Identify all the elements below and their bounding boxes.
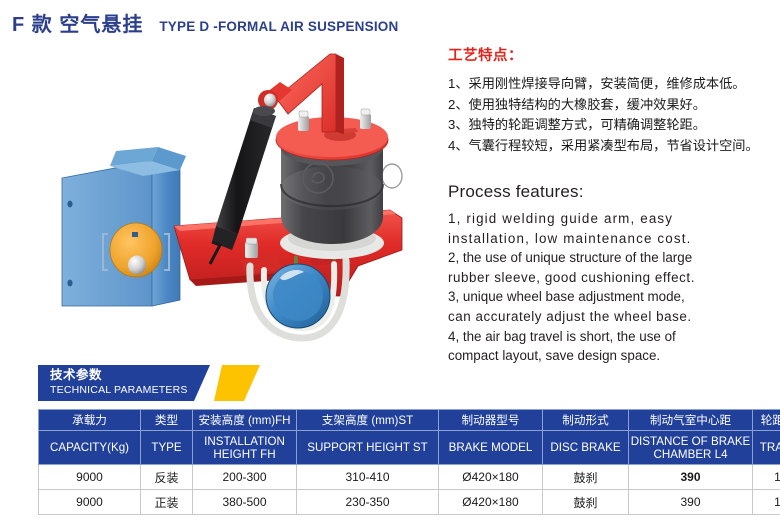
feature-en-line-7: 4, the air bag travel is short, the use … bbox=[448, 327, 774, 347]
cell-brake-model: Ø420×180 bbox=[439, 465, 543, 490]
th-en-track: TRACK L2 bbox=[753, 431, 780, 465]
cell-track: 1840 bbox=[753, 465, 780, 490]
features-list-cn: 1、采用刚性焊接导向臂，安装简便，维修成本低。 2、使用独特结构的大橡胶套，缓冲… bbox=[448, 74, 774, 156]
table-row: 9000 反装 200-300 310-410 Ø420×180 鼓刹 390 … bbox=[39, 465, 780, 490]
banner-label-cn: 技术参数 bbox=[50, 368, 188, 383]
cell-type: 正装 bbox=[141, 490, 193, 515]
feature-cn-1: 1、采用刚性焊接导向臂，安装简便，维修成本低。 bbox=[448, 74, 774, 95]
cell-track: 1840 bbox=[753, 490, 780, 515]
table-body: 9000 反装 200-300 310-410 Ø420×180 鼓刹 390 … bbox=[39, 465, 780, 515]
th-en-disc-brake: DISC BRAKE bbox=[543, 431, 629, 465]
feature-en-line-3: 2, the use of unique structure of the la… bbox=[448, 248, 774, 268]
th-en-capacity: CAPACITY(Kg) bbox=[39, 431, 141, 465]
cell-chamber-distance: 390 bbox=[629, 465, 753, 490]
title-english: TYPE D -FORMAL AIR SUSPENSION bbox=[159, 19, 398, 34]
feature-en-line-1: 1, rigid welding guide arm, easy bbox=[448, 209, 774, 229]
axle-assembly bbox=[250, 260, 346, 338]
cell-installation-height: 200-300 bbox=[193, 465, 297, 490]
product-illustration bbox=[40, 38, 440, 363]
th-cn-type: 类型 bbox=[141, 410, 193, 431]
th-cn-chamber-distance: 制动气室中心距 bbox=[629, 410, 753, 431]
page-title: F 款 空气悬挂 TYPE D -FORMAL AIR SUSPENSION bbox=[12, 8, 398, 37]
cell-capacity: 9000 bbox=[39, 490, 141, 515]
feature-cn-4: 4、气囊行程较短，采用紧凑型布局，节省设计空间。 bbox=[448, 136, 774, 157]
feature-en-line-5: 3, unique wheel base adjustment mode, bbox=[448, 287, 774, 307]
feature-en-line-4: rubber sleeve, good cushioning effect. bbox=[448, 268, 774, 288]
banner-label-en: TECHNICAL PARAMETERS bbox=[50, 383, 188, 397]
hanger-bracket bbox=[62, 147, 186, 306]
th-en-support-height: SUPPORT HEIGHT ST bbox=[297, 431, 439, 465]
feature-en-line-6: can accurately adjust the wheel base. bbox=[448, 307, 774, 327]
cell-disc-brake: 鼓刹 bbox=[543, 465, 629, 490]
th-en-type: TYPE bbox=[141, 431, 193, 465]
cell-capacity: 9000 bbox=[39, 465, 141, 490]
feature-cn-2: 2、使用独特结构的大橡胶套，缓冲效果好。 bbox=[448, 95, 774, 116]
feature-en-line-2: installation, low maintenance cost. bbox=[448, 229, 774, 249]
feature-cn-3: 3、独特的轮距调整方式，可精确调整轮距。 bbox=[448, 115, 774, 136]
th-cn-capacity: 承载力 bbox=[39, 410, 141, 431]
th-en-installation-height: INSTALLATION HEIGHT FH bbox=[193, 431, 297, 465]
features-panel: 工艺特点： 1、采用刚性焊接导向臂，安装简便，维修成本低。 2、使用独特结构的大… bbox=[448, 44, 774, 366]
cell-installation-height: 380-500 bbox=[193, 490, 297, 515]
cell-type: 反装 bbox=[141, 465, 193, 490]
cell-disc-brake: 鼓刹 bbox=[543, 490, 629, 515]
th-cn-installation-height: 安装高度 (mm)FH bbox=[193, 410, 297, 431]
table-header: 承载力 类型 安装高度 (mm)FH 支架高度 (mm)ST 制动器型号 制动形… bbox=[39, 410, 780, 465]
th-cn-disc-brake: 制动形式 bbox=[543, 410, 629, 431]
title-chinese: F 款 空气悬挂 bbox=[12, 8, 143, 37]
th-cn-brake-model: 制动器型号 bbox=[439, 410, 543, 431]
feature-en-line-8: compact layout, save design space. bbox=[448, 346, 774, 366]
catalog-page: F 款 空气悬挂 TYPE D -FORMAL AIR SUSPENSION bbox=[0, 0, 780, 529]
cell-chamber-distance: 390 bbox=[629, 490, 753, 515]
th-en-chamber-distance: DISTANCE OF BRAKE CHAMBER L4 bbox=[629, 431, 753, 465]
features-list-en: 1, rigid welding guide arm, easy install… bbox=[448, 209, 774, 366]
features-heading-cn: 工艺特点： bbox=[448, 44, 774, 65]
th-cn-track: 轮距 (mm) bbox=[753, 410, 780, 431]
features-heading-en: Process features: bbox=[448, 182, 774, 202]
technical-parameters-banner: 技术参数 TECHNICAL PARAMETERS bbox=[38, 365, 263, 401]
header-row-en: CAPACITY(Kg) TYPE INSTALLATION HEIGHT FH… bbox=[39, 431, 780, 465]
table-row: 9000 正装 380-500 230-350 Ø420×180 鼓刹 390 … bbox=[39, 490, 780, 515]
cell-support-height: 310-410 bbox=[297, 465, 439, 490]
th-en-brake-model: BRAKE MODEL bbox=[439, 431, 543, 465]
technical-parameters-table: 承载力 类型 安装高度 (mm)FH 支架高度 (mm)ST 制动器型号 制动形… bbox=[38, 409, 780, 515]
cell-support-height: 230-350 bbox=[297, 490, 439, 515]
banner-text: 技术参数 TECHNICAL PARAMETERS bbox=[50, 368, 188, 397]
banner-yellow-shape bbox=[214, 365, 260, 401]
u-bolt-left bbox=[245, 238, 258, 258]
header-row-cn: 承载力 类型 安装高度 (mm)FH 支架高度 (mm)ST 制动器型号 制动形… bbox=[39, 410, 780, 431]
cell-brake-model: Ø420×180 bbox=[439, 490, 543, 515]
th-cn-support-height: 支架高度 (mm)ST bbox=[297, 410, 439, 431]
